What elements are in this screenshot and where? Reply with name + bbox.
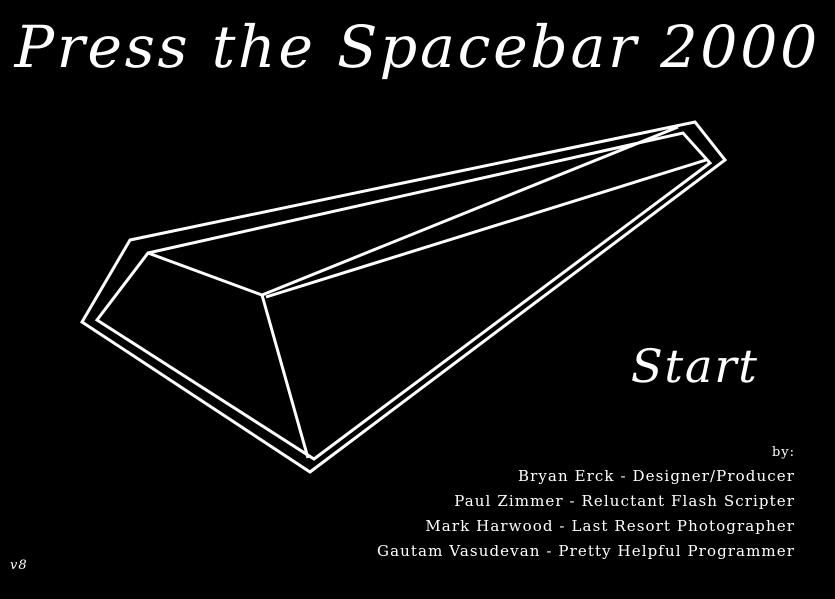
credits-block: by: Bryan Erck - Designer/Producer Paul … — [375, 442, 795, 564]
game-title-screen: Press the Spacebar 2000 Start by: Bryan … — [0, 0, 835, 599]
credit-line-programmer: Gautam Vasudevan - Pretty Helpful Progra… — [375, 539, 795, 564]
page-title: Press the Spacebar 2000 — [0, 4, 835, 90]
credit-line-scripter: Paul Zimmer - Reluctant Flash Scripter — [375, 489, 795, 514]
credit-line-photographer: Mark Harwood - Last Resort Photographer — [375, 514, 795, 539]
version-label: v8 — [10, 558, 28, 573]
credits-by-label: by: — [375, 442, 795, 464]
start-button[interactable]: Start — [599, 335, 790, 397]
credit-line-designer: Bryan Erck - Designer/Producer — [375, 464, 795, 489]
spacebar-press-target[interactable] — [75, 112, 735, 480]
